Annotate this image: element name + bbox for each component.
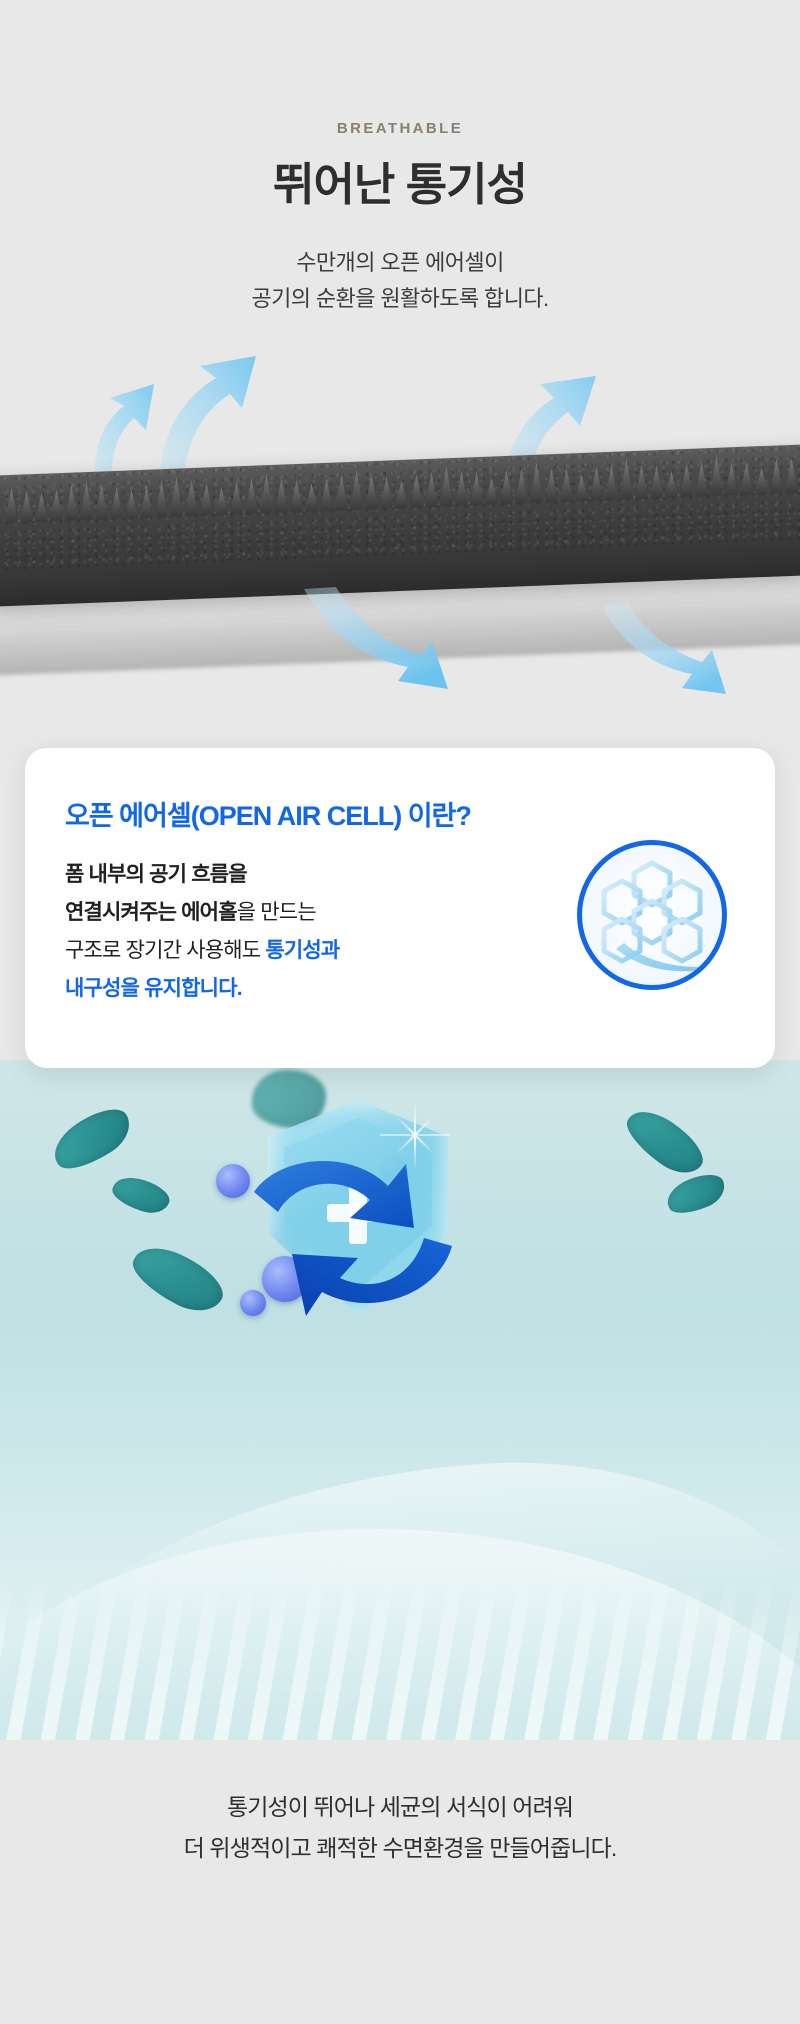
card-line-3-plain: 구조로 장기간 사용해도 xyxy=(65,939,265,962)
bacteria-blob xyxy=(662,1168,730,1220)
footer-caption-line-2: 더 위생적이고 쾌적한 수면환경을 만들어줍니다. xyxy=(0,1828,800,1869)
honeycomb-cells-icon xyxy=(582,845,722,985)
hero-subtitle-line-2: 공기의 순환을 원활하도록 합니다. xyxy=(0,281,800,317)
page-title: 뛰어난 통기성 xyxy=(0,148,800,213)
card-body: 폼 내부의 공기 흐름을 연결시켜주는 에어홀을 만드는 구조로 장기간 사용해… xyxy=(65,856,485,1008)
hero-subtitle-line-1: 수만개의 오픈 에어셀이 xyxy=(0,245,800,281)
card-line-3-blue: 통기성과 xyxy=(265,939,339,962)
hero-section: BREATHABLE 뛰어난 통기성 수만개의 오픈 에어셀이 공기의 순환을 … xyxy=(0,0,800,710)
open-air-cell-card: 오픈 에어셀(OPEN AIR CELL) 이란? 폼 내부의 공기 흐름을 연… xyxy=(25,748,775,1068)
blue-ribbon-arrow xyxy=(200,1120,530,1350)
honeycomb-ring xyxy=(577,840,727,990)
hygiene-scene xyxy=(0,1060,800,1760)
honeycomb-circle-icon xyxy=(577,840,727,990)
bacteria-blob xyxy=(45,1099,138,1179)
hero-subtitle: 수만개의 오픈 에어셀이 공기의 순환을 원활하도록 합니다. xyxy=(0,245,800,317)
fabric-folds xyxy=(0,1580,800,1760)
footer-caption-line-1: 통기성이 뛰어나 세균의 서식이 어려워 xyxy=(0,1787,800,1828)
card-line-4-blue: 내구성을 유지합니다. xyxy=(65,977,242,1000)
bacteria-blob xyxy=(618,1101,711,1184)
hero-eyebrow: BREATHABLE xyxy=(0,120,800,137)
foam-photo xyxy=(0,350,800,710)
airflow-arrow-down-center xyxy=(300,585,450,695)
card-line-2-rest: 을 만드는 xyxy=(237,901,316,924)
card-line-1: 폼 내부의 공기 흐름을 xyxy=(65,863,247,886)
card-title: 오픈 에어셀(OPEN AIR CELL) 이란? xyxy=(65,794,471,833)
card-line-2-bold: 연결시켜주는 에어홀 xyxy=(65,901,237,924)
airflow-arrow-down-right xyxy=(600,600,730,700)
footer-section: 통기성이 뛰어나 세균의 서식이 어려워 더 위생적이고 쾌적한 수면환경을 만… xyxy=(0,1740,800,2024)
footer-caption: 통기성이 뛰어나 세균의 서식이 어려워 더 위생적이고 쾌적한 수면환경을 만… xyxy=(0,1787,800,1869)
bacteria-blob xyxy=(109,1172,173,1218)
